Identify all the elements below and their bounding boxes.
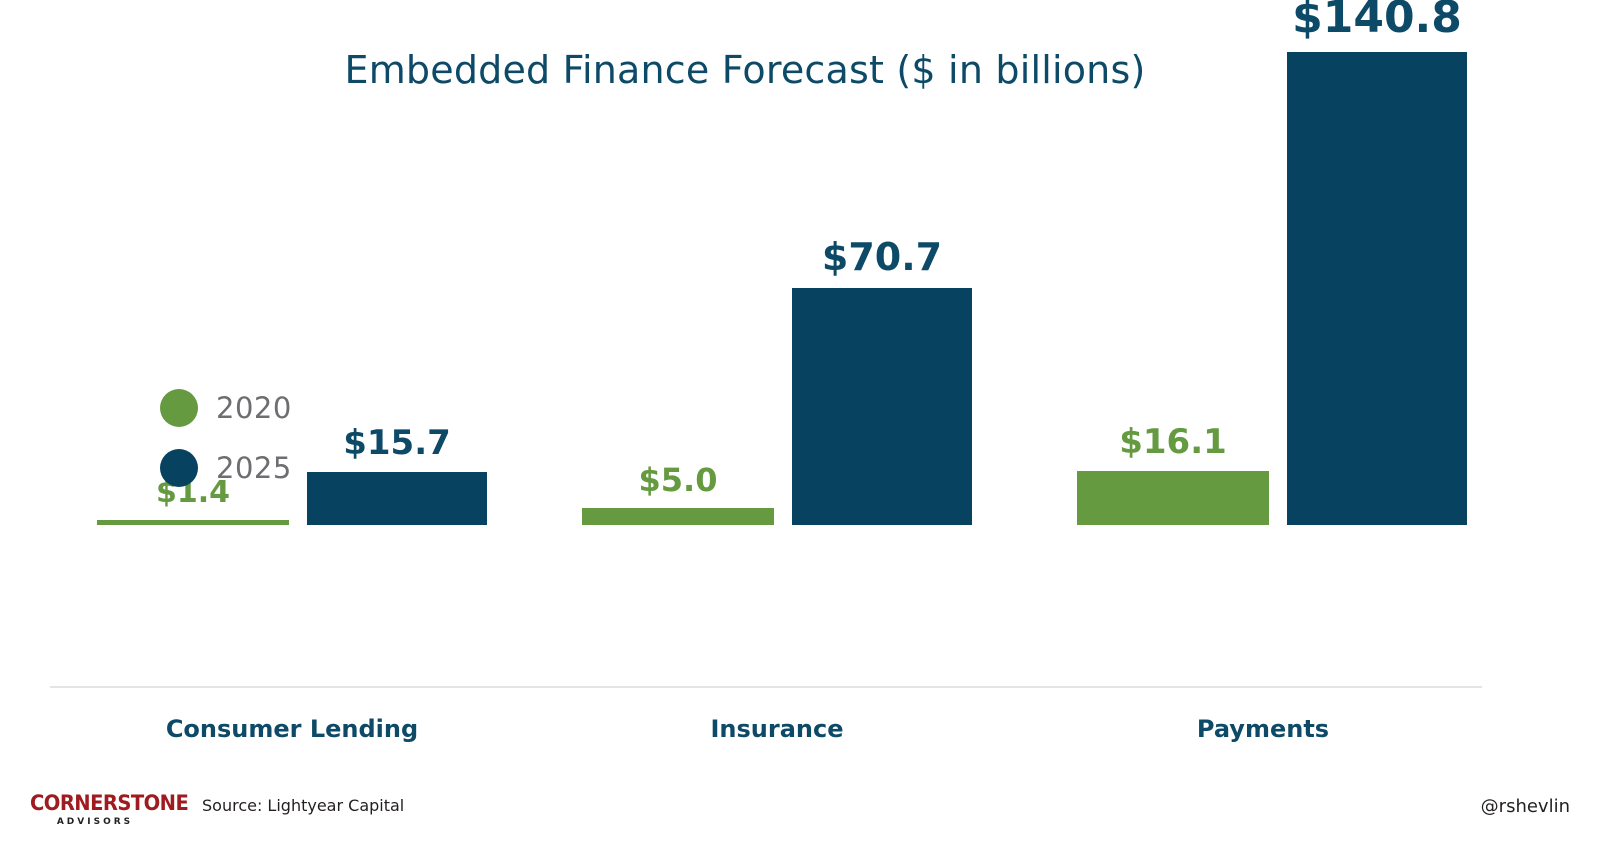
logo-subtitle: ADVISORS <box>30 818 160 827</box>
bar-value-label: $140.8 <box>1287 0 1467 40</box>
category-label-payments: Payments <box>1068 715 1458 743</box>
legend-label: 2025 <box>216 451 292 485</box>
bar-rect <box>307 472 487 525</box>
bar-rect <box>1287 52 1467 525</box>
category-label-insurance: Insurance <box>582 715 972 743</box>
legend-item-2020[interactable]: 2020 <box>160 378 292 438</box>
bar-rect <box>582 508 774 525</box>
cornerstone-advisors-logo: CORNERSTONE ADVISORS <box>30 793 160 827</box>
legend-item-2025[interactable]: 2025 <box>160 438 292 498</box>
bar-rect <box>792 288 972 526</box>
bar-value-label: $16.1 <box>1077 425 1269 459</box>
category-label-consumer-lending: Consumer Lending <box>97 715 487 743</box>
author-handle: @rshevlin <box>1481 796 1570 817</box>
bar-rect <box>1077 471 1269 525</box>
bar-payments-2020[interactable]: $16.1 <box>1077 471 1269 525</box>
bar-payments-2025[interactable]: $140.8 <box>1287 52 1467 525</box>
bar-consumer-lending-2020[interactable]: $1.4 <box>97 520 289 525</box>
bar-insurance-2020[interactable]: $5.0 <box>582 508 774 525</box>
source-attribution: Source: Lightyear Capital <box>202 796 404 815</box>
bar-consumer-lending-2025[interactable]: $15.7 <box>307 472 487 525</box>
bar-value-label: $15.7 <box>307 426 487 460</box>
x-axis-line <box>50 686 1482 688</box>
chart-legend: 2020 2025 <box>160 378 292 498</box>
bar-insurance-2025[interactable]: $70.7 <box>792 288 972 526</box>
bar-value-label: $5.0 <box>582 464 774 496</box>
logo-wordmark: CORNERSTONE <box>30 793 151 814</box>
bar-rect <box>97 520 289 525</box>
bar-value-label: $70.7 <box>792 238 972 276</box>
legend-swatch-circle-icon <box>160 389 198 427</box>
chart-plot-area: $1.4 $15.7 $5.0 $70.7 $16.1 $140.8 Consu… <box>0 0 1600 700</box>
legend-swatch-circle-icon <box>160 449 198 487</box>
legend-label: 2020 <box>216 391 292 425</box>
